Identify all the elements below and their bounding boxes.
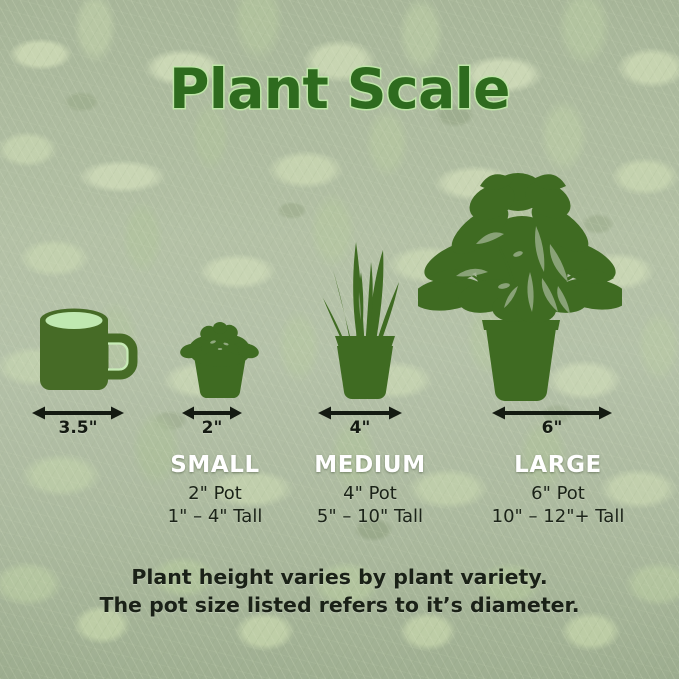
dimension-label-mug: 3.5" xyxy=(32,418,124,438)
size-name-large: LARGE xyxy=(465,452,651,478)
size-pot-medium: 4" Pot xyxy=(283,483,457,504)
small-potted-plant-icon xyxy=(174,318,266,405)
size-group-large: LARGE 6" Pot 10" – 12"+ Tall xyxy=(465,452,651,527)
size-pot-large: 6" Pot xyxy=(465,483,651,504)
snake-plant-icon xyxy=(309,228,421,405)
size-height-large: 10" – 12"+ Tall xyxy=(465,506,651,527)
plant-scale-infographic: Plant Scale xyxy=(0,0,679,679)
coffee-mug-icon xyxy=(34,304,146,405)
dimension-label-medium: 4" xyxy=(318,418,402,438)
size-group-small: SMALL 2" Pot 1" – 4" Tall xyxy=(140,452,290,527)
dimension-label-small: 2" xyxy=(182,418,242,438)
size-group-medium: MEDIUM 4" Pot 5" – 10" Tall xyxy=(283,452,457,527)
size-height-small: 1" – 4" Tall xyxy=(140,506,290,527)
dimension-label-large: 6" xyxy=(492,418,612,438)
footer-line-2: The pot size listed refers to it’s diame… xyxy=(0,591,679,619)
size-name-small: SMALL xyxy=(140,452,290,478)
large-leafy-plant-icon xyxy=(418,168,622,407)
page-title: Plant Scale xyxy=(0,57,679,121)
size-name-medium: MEDIUM xyxy=(283,452,457,478)
footer-note: Plant height varies by plant variety. Th… xyxy=(0,563,679,619)
size-pot-small: 2" Pot xyxy=(140,483,290,504)
size-height-medium: 5" – 10" Tall xyxy=(283,506,457,527)
footer-line-1: Plant height varies by plant variety. xyxy=(0,563,679,591)
